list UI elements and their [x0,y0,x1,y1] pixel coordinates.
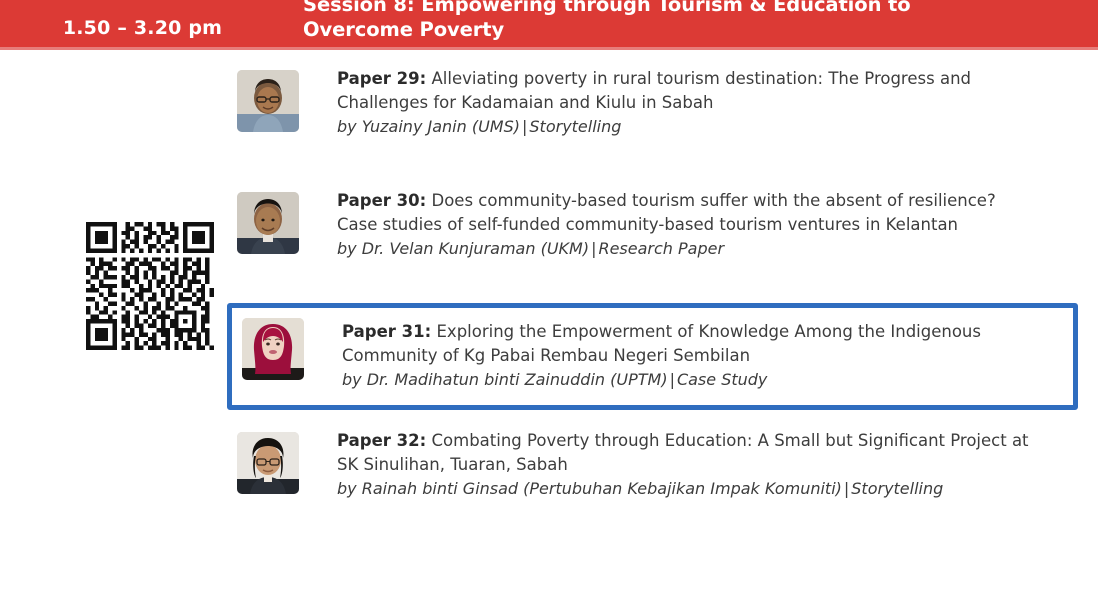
paper-label-suffix: : [420,431,427,450]
paper-meta-separator: | [842,479,851,498]
paper-row[interactable]: Paper 30: Does community-based tourism s… [227,187,1078,273]
paper-format: Research Paper [598,239,724,258]
paper-label: Paper 30 [337,191,420,210]
avatar-image [237,432,299,494]
session-title-line-1: Session 8: Empowering through Tourism & … [303,0,1063,17]
paper-row[interactable]: Paper 29: Alleviating poverty in rural t… [227,65,1078,151]
session-title: Session 8: Empowering through Tourism & … [303,0,1063,42]
avatar-image [242,318,304,380]
avatar [237,432,299,494]
paper-author: by Yuzainy Janin (UMS) [337,117,520,136]
paper-title-line-1: Combating Poverty through Education: A S… [432,431,946,450]
paper-row[interactable]: Paper 32: Combating Poverty through Educ… [227,427,1078,513]
paper-format: Storytelling [529,117,621,136]
session-title-line-2: Overcome Poverty [303,17,1063,42]
paper-title: Paper 31: Exploring the Empowerment of K… [342,320,1042,367]
avatar-image [237,192,299,254]
paper-text: Paper 31: Exploring the Empowerment of K… [342,318,1042,392]
paper-label: Paper 29 [337,69,420,88]
paper-text: Paper 29: Alleviating poverty in rural t… [337,65,1037,139]
paper-format: Case Study [677,370,767,389]
paper-list: Paper 29: Alleviating poverty in rural t… [0,50,1098,596]
paper-title: Paper 32: Combating Poverty through Educ… [337,429,1037,476]
paper-meta: by Rainah binti Ginsad (Pertubuhan Kebaj… [337,477,1037,501]
paper-label: Paper 32 [337,431,420,450]
paper-author: by Dr. Madihatun binti Zainuddin (UPTM) [342,370,668,389]
paper-meta: by Dr. Velan Kunjuraman (UKM)|Research P… [337,237,1037,261]
session-header-band: 1.50 – 3.20 pm Session 8: Empowering thr… [0,0,1098,50]
avatar [237,192,299,254]
paper-meta-separator: | [520,117,529,136]
paper-label-suffix: : [420,69,427,88]
paper-label: Paper 31 [342,322,425,341]
paper-format: Storytelling [851,479,943,498]
paper-title-line-2: Case studies of self-funded community-ba… [337,215,958,234]
paper-meta: by Dr. Madihatun binti Zainuddin (UPTM)|… [342,368,1042,392]
paper-title: Paper 29: Alleviating poverty in rural t… [337,67,1037,114]
paper-title-line-1: Does community-based tourism suffer with… [432,191,996,210]
avatar [237,70,299,132]
paper-label-suffix: : [425,322,432,341]
avatar-image [237,70,299,132]
paper-title-line-1: Exploring the Empowerment of Knowledge A… [437,322,886,341]
paper-author: by Dr. Velan Kunjuraman (UKM) [337,239,589,258]
paper-meta-separator: | [668,370,677,389]
avatar [242,318,304,380]
paper-author: by Rainah binti Ginsad (Pertubuhan Kebaj… [337,479,842,498]
paper-meta: by Yuzainy Janin (UMS)|Storytelling [337,115,1037,139]
paper-text: Paper 30: Does community-based tourism s… [337,187,1037,261]
paper-text: Paper 32: Combating Poverty through Educ… [337,427,1037,501]
session-time: 1.50 – 3.20 pm [0,0,285,50]
paper-title: Paper 30: Does community-based tourism s… [337,189,1037,236]
paper-title-line-1: Alleviating poverty in rural tourism des… [432,69,935,88]
paper-row-highlighted[interactable]: Paper 31: Exploring the Empowerment of K… [227,303,1078,410]
paper-label-suffix: : [420,191,427,210]
